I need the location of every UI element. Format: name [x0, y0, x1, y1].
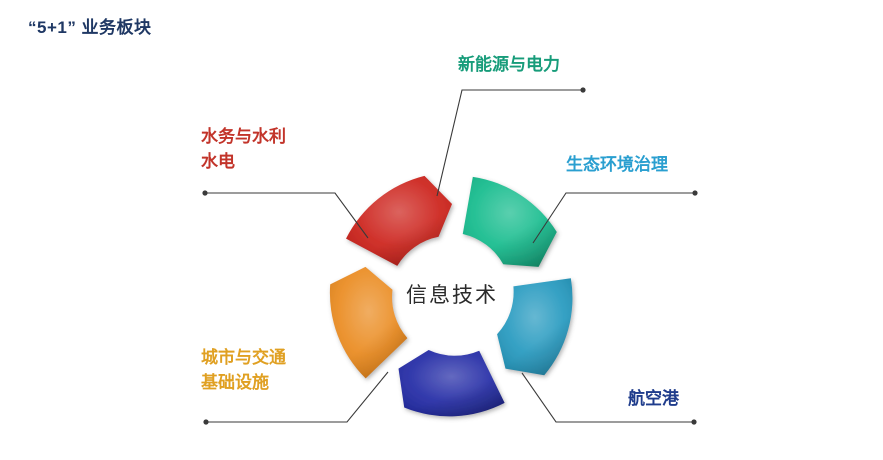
- segment-label-line: 基础设施: [201, 370, 286, 395]
- segment-label-line: 城市与交通: [201, 345, 286, 370]
- leader-dot-water: [202, 190, 207, 195]
- donut-segment-eco[interactable]: [497, 278, 572, 375]
- leader-dot-eco: [692, 190, 697, 195]
- donut-segment-energy[interactable]: [463, 177, 557, 267]
- segment-label-eco: 生态环境治理: [566, 152, 668, 177]
- leader-line-eco: [533, 193, 695, 243]
- leader-line-energy: [437, 90, 583, 196]
- segment-label-airport: 航空港: [628, 386, 679, 411]
- leader-dot-airport: [691, 419, 696, 424]
- segment-label-line: 新能源与电力: [458, 52, 560, 77]
- donut-segment-airport[interactable]: [399, 350, 505, 416]
- donut-segment-gloss-energy: [463, 177, 557, 267]
- segment-label-line: 航空港: [628, 386, 679, 411]
- donut-segment-gloss-urban: [330, 267, 407, 378]
- segment-label-line: 水务与水利: [201, 124, 286, 149]
- segment-label-urban: 城市与交通基础设施: [201, 345, 286, 395]
- donut-segment-urban[interactable]: [330, 267, 407, 378]
- center-label: 信息技术: [406, 279, 498, 309]
- segment-label-energy: 新能源与电力: [458, 52, 560, 77]
- business-segments-donut-diagram: [0, 0, 883, 460]
- donut-segment-gloss-airport: [399, 350, 505, 416]
- leader-line-water: [205, 193, 368, 238]
- donut-segment-water[interactable]: [346, 176, 452, 266]
- segment-label-line: 水电: [201, 149, 286, 174]
- segment-label-line: 生态环境治理: [566, 152, 668, 177]
- donut-segment-gloss-eco: [497, 278, 572, 375]
- leader-dot-urban: [203, 419, 208, 424]
- slide-canvas: “5+1” 业务板块 新能源与电力 生态环境治理 航空港 城市与交通基础设施 水…: [0, 0, 883, 460]
- donut-segment-gloss-water: [346, 176, 452, 266]
- leader-dot-energy: [580, 87, 585, 92]
- segment-label-water: 水务与水利水电: [201, 124, 286, 174]
